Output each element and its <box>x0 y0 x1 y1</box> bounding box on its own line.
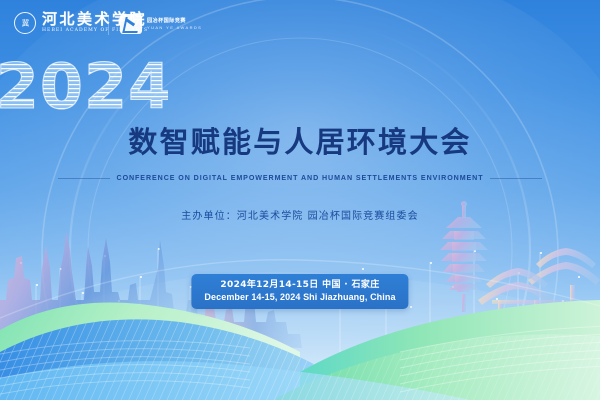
yuanye-name-en: YUAN YE AWARDS <box>147 26 202 30</box>
subtitle-rule-right <box>490 178 542 179</box>
year-2024: 2024 <box>0 52 600 118</box>
academy-seal-char: 冀 <box>21 19 28 27</box>
date-location-badge: 2024年12月14-15日 中国 · 石家庄 December 14-15, … <box>191 274 408 309</box>
poster-header: 冀 河北美术学院 HEBEI ACADEMY OF FINE ARTS 园冶杯国… <box>0 0 600 52</box>
date-location-en: December 14-15, 2024 Shi Jiazhuang, Chin… <box>204 291 395 303</box>
academy-seal-icon: 冀 <box>14 12 36 34</box>
poster-content: 2024 数智赋能与人居环境大会 CONFERENCE ON DIGITAL E… <box>0 0 600 400</box>
svg-text:2024: 2024 <box>0 52 168 118</box>
subtitle-rule-left <box>58 178 110 179</box>
logo-divider <box>108 15 109 35</box>
subtitle-row: CONFERENCE ON DIGITAL EMPOWERMENT AND HU… <box>0 174 600 182</box>
organizer-line: 主办单位：河北美术学院 园冶杯国际竞赛组委会 <box>0 207 600 222</box>
subtitle-english: CONFERENCE ON DIGITAL EMPOWERMENT AND HU… <box>117 174 484 182</box>
yuanye-name-cn: 园冶杯国际竞赛 <box>147 18 202 25</box>
conference-poster: 冀 河北美术学院 HEBEI ACADEMY OF FINE ARTS 园冶杯国… <box>0 0 600 400</box>
date-location-cn: 2024年12月14-15日 中国 · 石家庄 <box>204 279 395 291</box>
yuanye-mark-icon <box>120 14 142 34</box>
year-striped-graphic: 2024 <box>0 52 168 118</box>
logo-yuanye-award[interactable]: 园冶杯国际竞赛 YUAN YE AWARDS <box>120 14 202 34</box>
page-title: 数智赋能与人居环境大会 <box>0 127 600 159</box>
